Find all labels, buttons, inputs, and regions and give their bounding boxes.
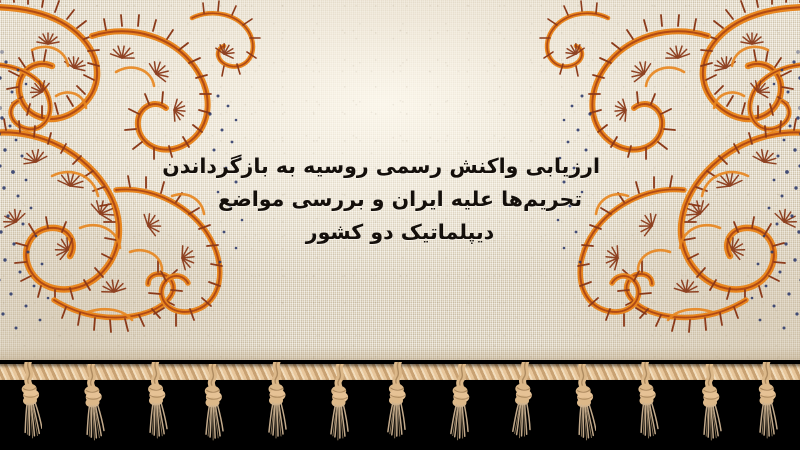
title-line-2: تحریم‌ها علیه ایران و بررسی مواضع [200,183,600,216]
tassel [512,362,538,446]
tassel-fringe [0,360,800,450]
tassel [327,364,353,448]
tassel [754,362,780,446]
tassel [16,362,42,446]
tassel [79,364,105,448]
tassel [633,362,659,446]
tassel [264,362,290,446]
tassel [385,362,411,446]
tassel [570,364,596,448]
title-line-1: ارزیابی واکنش رسمی روسیه به بازگرداندن [200,150,600,183]
tassel [200,364,226,448]
title-line-3: دیپلماتیک دو کشور [200,216,600,249]
tassel [143,362,169,446]
page-title: ارزیابی واکنش رسمی روسیه به بازگرداندن ت… [200,150,600,249]
tassel [697,364,723,448]
tassel [449,364,475,448]
title-card-canvas: ارزیابی واکنش رسمی روسیه به بازگرداندن ت… [0,0,800,450]
